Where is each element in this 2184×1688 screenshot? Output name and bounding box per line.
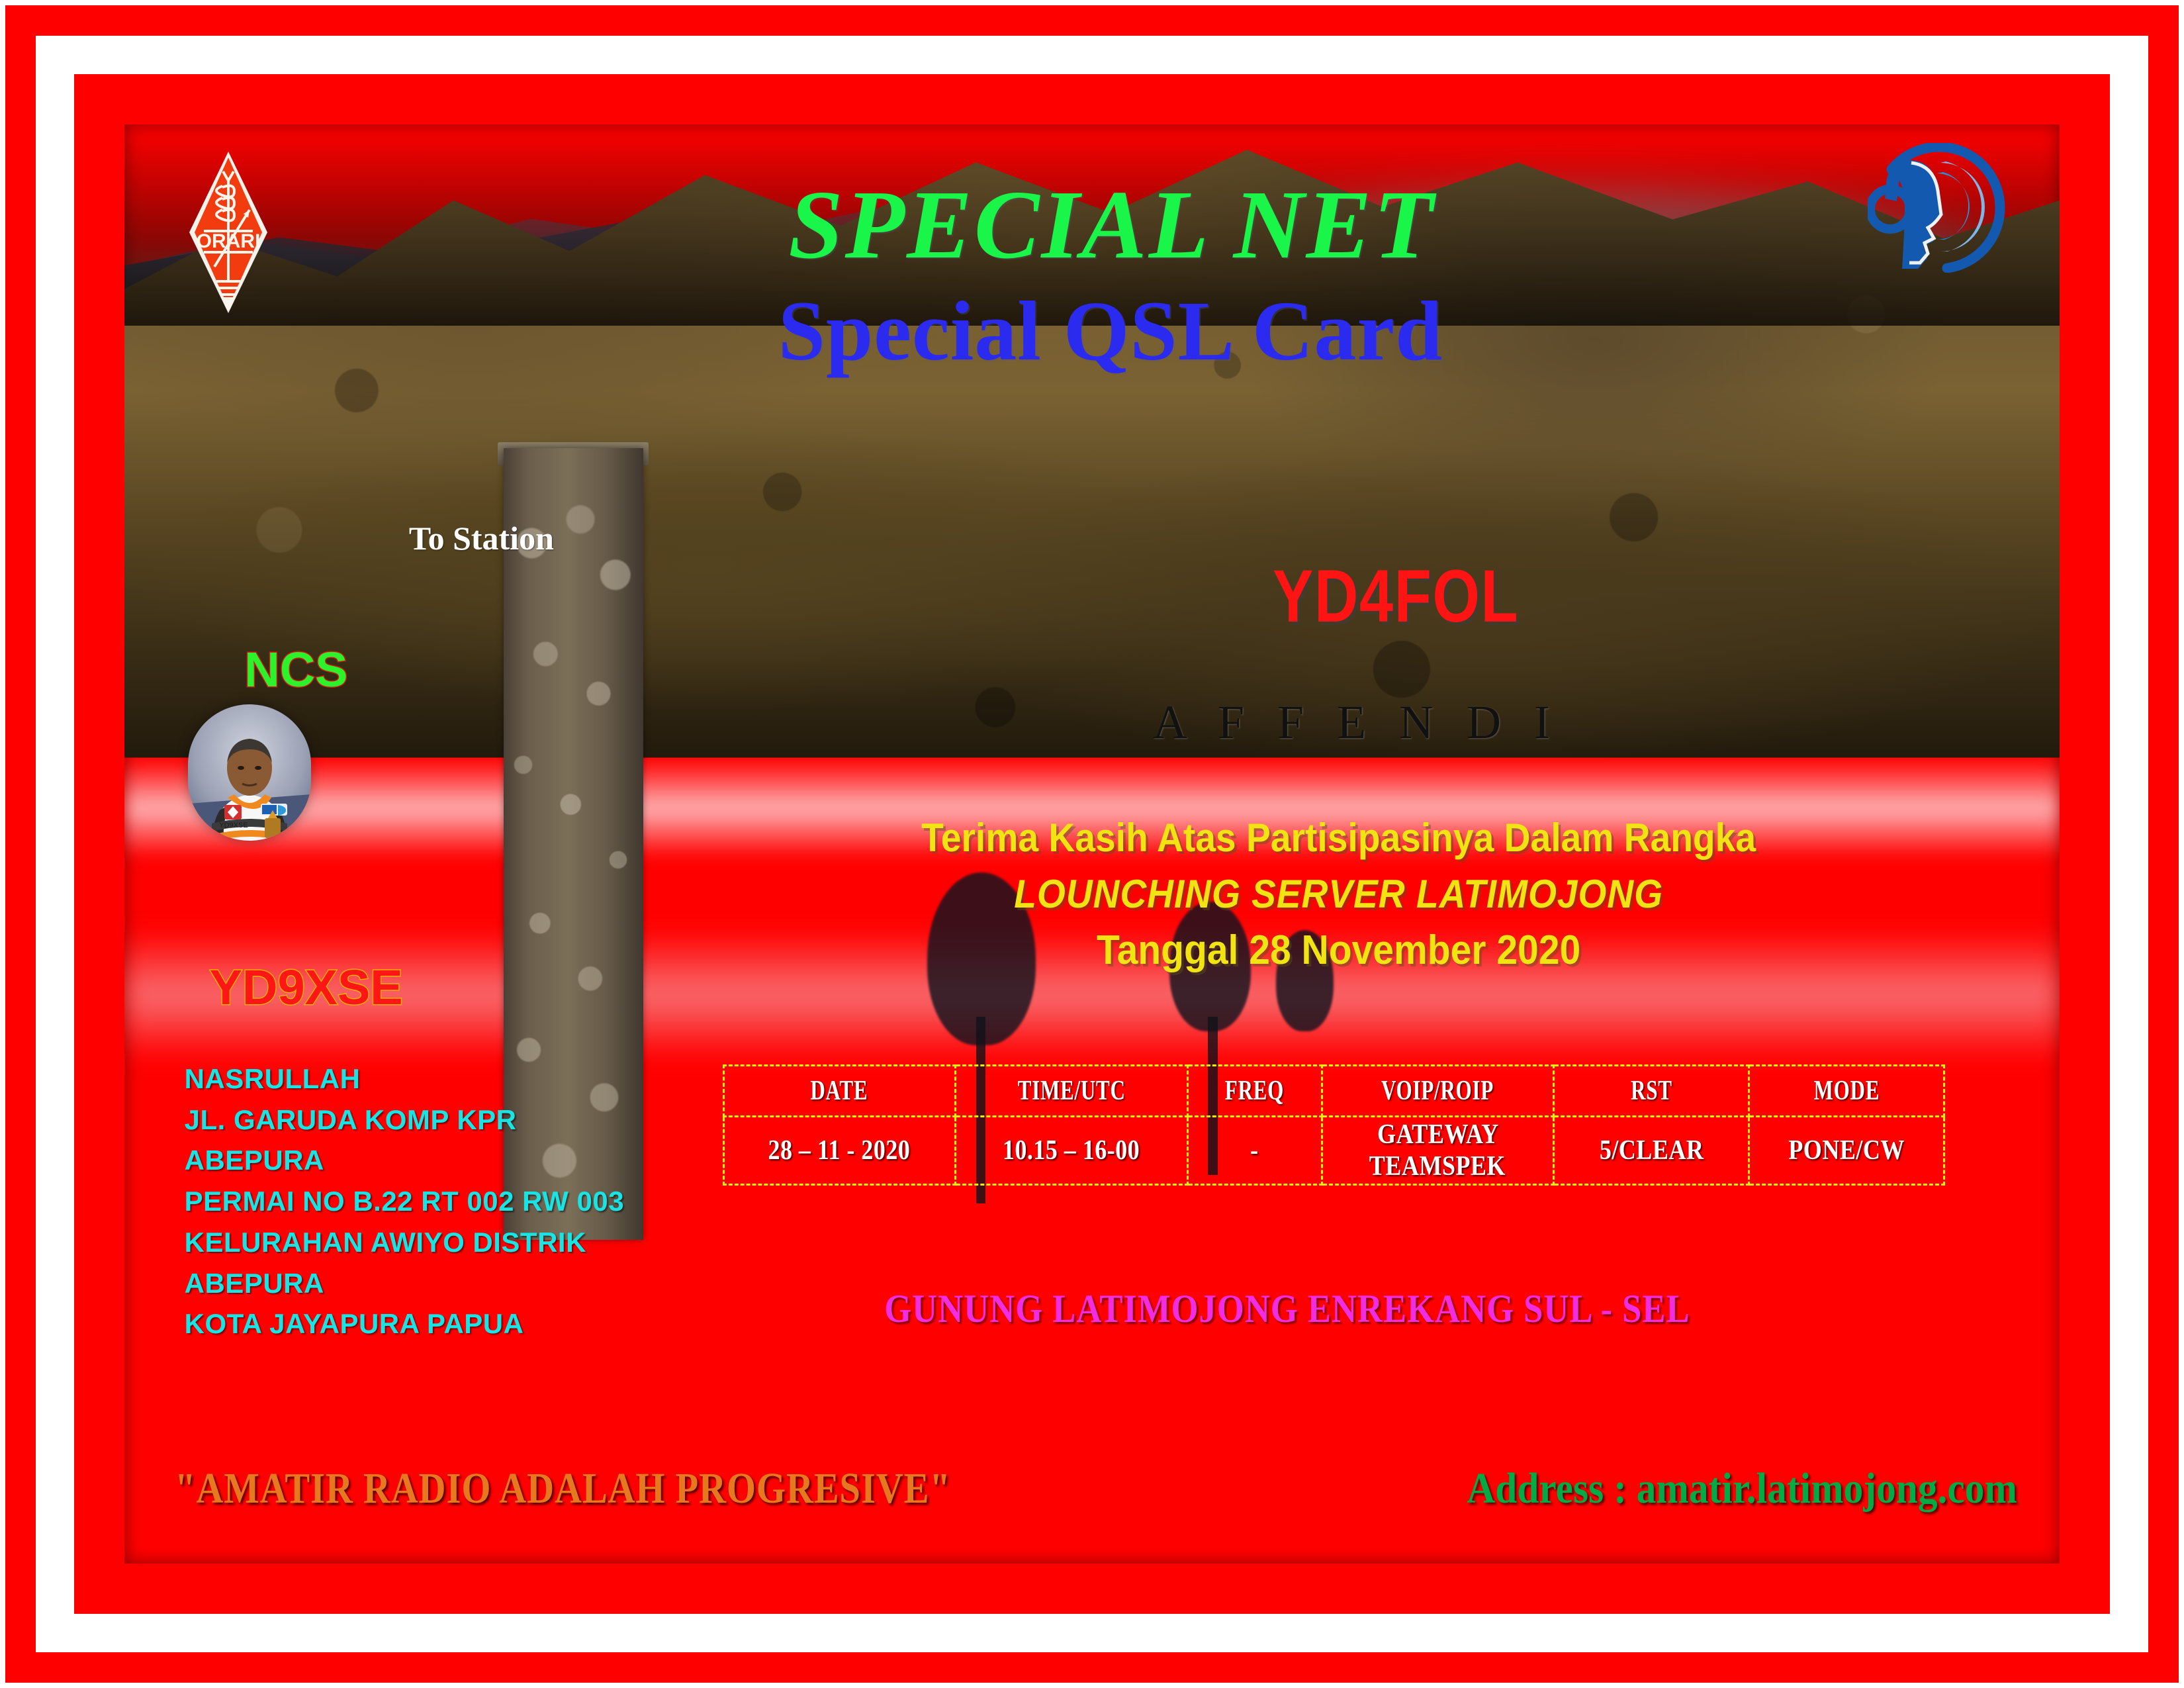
column-header-rst: RST [1567,1065,1735,1116]
column-header-time: TIME/UTC [972,1065,1171,1116]
qso-log-table: DATE TIME/UTC FREQ VOIP/ROIP RST MODE 28… [723,1064,1946,1186]
column-header-date: DATE [740,1065,939,1116]
thanks-line: Terima Kasih Atas Partisipasinya Dalam R… [449,818,2060,858]
table-header-row: DATE TIME/UTC FREQ VOIP/ROIP RST MODE [723,1065,1944,1116]
page-title: SPECIAL NET [144,176,2060,274]
column-header-mode: MODE [1762,1065,1931,1116]
web-address: Address : amatir.latimojong.com [1467,1467,2017,1511]
cell-time: 10.15 – 16-00 [956,1116,1188,1184]
location-caption: GUNUNG LATIMOJONG ENREKANG SUL - SEL [435,1289,2060,1329]
event-name: LOUNCHING SERVER LATIMOJONG [449,874,2060,914]
column-header-voip: VOIP/ROIP [1338,1065,1537,1116]
column-header-freq: FREQ [1197,1065,1312,1116]
table-row: 28 – 11 - 2020 10.15 – 16-00 - GATEWAY T… [723,1116,1944,1184]
cell-mode: PONE/CW [1749,1116,1944,1184]
recipient-callsign: YD4FOL [602,559,2060,633]
cell-voip: GATEWAY TEAMSPEK [1322,1116,1554,1184]
inner-red-border: ORARI [74,74,2110,1614]
address-line: NASRULLAH [185,1058,624,1100]
event-date: Tanggal 28 November 2020 [449,930,2060,971]
address-line: ABEPURA [185,1140,624,1181]
outer-red-border: ORARI [5,5,2179,1683]
qsl-card: ORARI [0,0,2184,1688]
address-line: JL. GARUDA KOMP KPR [185,1100,624,1141]
ncs-label: NCS [244,645,347,694]
to-station-label: To Station [409,522,554,555]
background-photograph: ORARI [124,124,2060,1564]
uniform-callsign-text: YD9XSE [220,821,248,829]
cell-date: 28 – 11 - 2020 [723,1116,956,1184]
ncs-callsign: YD9XSE [210,963,403,1012]
operator-name: A F F E N D I [389,698,2060,746]
cell-freq: - [1187,1116,1322,1184]
subtitle: Special QSL Card [143,289,2060,373]
motto-text: "AMATIR RADIO ADALAH PROGRESIVE" [175,1467,951,1511]
cell-rst: 5/CLEAR [1554,1116,1749,1184]
ncs-operator-avatar: YD9XSE [188,704,311,841]
address-line: KELURAHAN AWIYO DISTRIK [185,1222,624,1263]
address-line: PERMAI NO B.22 RT 002 RW 003 [185,1181,624,1222]
white-border-gap: ORARI [36,36,2148,1652]
